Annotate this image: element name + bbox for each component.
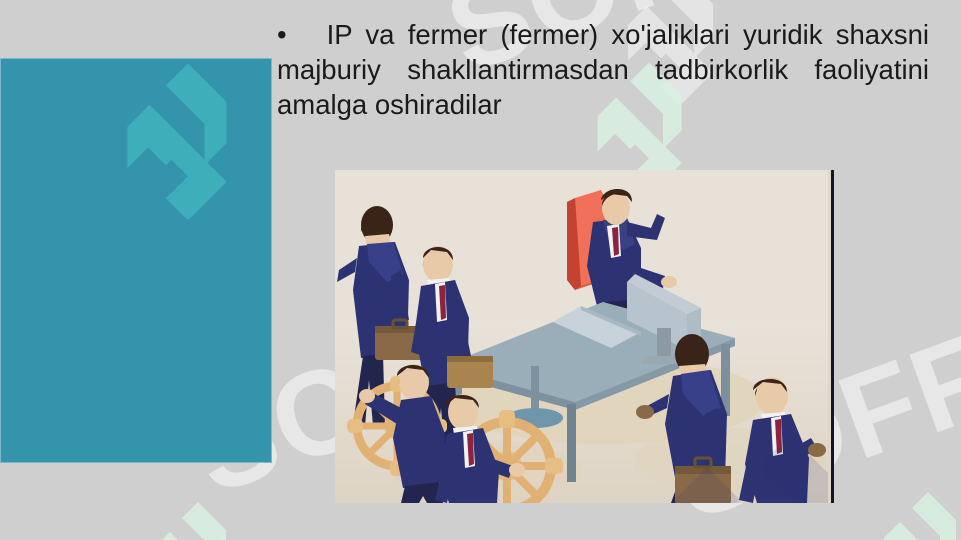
- bullet-paragraph: •IP va fermer (fermer) xo'jaliklari yuri…: [277, 17, 929, 122]
- bullet-marker: •: [277, 19, 287, 50]
- bullet-paragraph-text: IP va fermer (fermer) xo'jaliklari yurid…: [277, 19, 929, 120]
- watermark-logo-bottom-left-green: [148, 498, 248, 540]
- slide-body-text: •IP va fermer (fermer) xo'jaliklari yuri…: [277, 17, 929, 122]
- slide-canvas: SOFF SOFF SOFF: [0, 0, 961, 540]
- watermark-logo-bottom-right-green: [878, 488, 961, 540]
- illustration-image: [335, 170, 834, 503]
- teal-accent-panel: [0, 58, 272, 463]
